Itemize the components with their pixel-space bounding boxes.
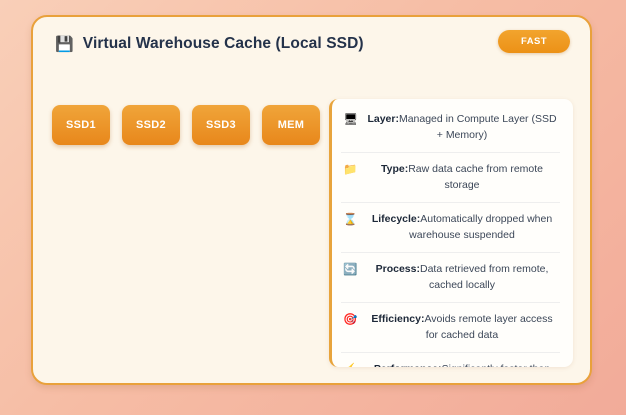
- desktop-computer-icon: 🖥: [343, 112, 358, 128]
- virtual-warehouse-cache-card: 💾 Virtual Warehouse Cache (Local SSD) FA…: [31, 15, 592, 385]
- page-title-text: Virtual Warehouse Cache (Local SSD): [83, 35, 364, 53]
- node-chip-mem[interactable]: MEM: [262, 105, 320, 145]
- info-item-value: Avoids remote layer access for cached da…: [424, 313, 552, 341]
- info-item-text: Type:Raw data cache from remote storage: [366, 162, 558, 193]
- page-title: 💾 Virtual Warehouse Cache (Local SSD): [55, 35, 364, 53]
- list-item: ⚡ Performance:Significantly faster than …: [341, 353, 560, 367]
- node-pane: SSD1 SSD2 SSD3 MEM: [33, 79, 325, 383]
- info-item-value: Automatically dropped when warehouse sus…: [409, 213, 552, 241]
- floppy-disk-icon: 💾: [55, 37, 74, 52]
- status-badge: FAST: [498, 30, 570, 53]
- list-item: ⌛ Lifecycle:Automatically dropped when w…: [341, 203, 560, 253]
- info-item-text: Efficiency:Avoids remote layer access fo…: [366, 312, 558, 343]
- node-chip-ssd2[interactable]: SSD2: [122, 105, 180, 145]
- info-panel: 🖥 Layer:Managed in Compute Layer (SSD + …: [329, 99, 573, 367]
- info-item-text: Layer:Managed in Compute Layer (SSD + Me…: [366, 112, 558, 143]
- info-item-key: Layer:: [367, 113, 399, 125]
- info-item-key: Process:: [376, 263, 420, 275]
- list-item: 🎯 Efficiency:Avoids remote layer access …: [341, 303, 560, 353]
- lightning-bolt-icon: ⚡: [343, 362, 358, 367]
- info-list: 🖥 Layer:Managed in Compute Layer (SSD + …: [332, 99, 573, 367]
- dart-target-icon: 🎯: [343, 312, 358, 328]
- info-item-key: Lifecycle:: [372, 213, 420, 225]
- info-item-value: Raw data cache from remote storage: [408, 163, 543, 191]
- list-item: 📁 Type:Raw data cache from remote storag…: [341, 153, 560, 203]
- hourglass-icon: ⌛: [343, 212, 358, 228]
- info-item-text: Lifecycle:Automatically dropped when war…: [366, 212, 558, 243]
- card-body: SSD1 SSD2 SSD3 MEM 🖥 Layer:Managed in Co…: [33, 79, 590, 383]
- card-header: 💾 Virtual Warehouse Cache (Local SSD) FA…: [33, 17, 590, 79]
- node-chip-row: SSD1 SSD2 SSD3 MEM: [52, 105, 320, 145]
- folder-icon: 📁: [343, 162, 358, 178]
- info-item-text: Process:Data retrieved from remote, cach…: [366, 262, 558, 293]
- list-item: 🔄 Process:Data retrieved from remote, ca…: [341, 253, 560, 303]
- info-item-key: Performance:: [374, 363, 442, 367]
- info-item-value: Data retrieved from remote, cached local…: [420, 263, 548, 291]
- node-chip-ssd1[interactable]: SSD1: [52, 105, 110, 145]
- refresh-sync-icon: 🔄: [343, 262, 358, 278]
- info-item-value: Managed in Compute Layer (SSD + Memory): [399, 113, 557, 141]
- info-item-text: Performance:Significantly faster than re…: [366, 362, 558, 367]
- info-item-key: Type:: [381, 163, 408, 175]
- info-item-key: Efficiency:: [371, 313, 424, 325]
- list-item: 🖥 Layer:Managed in Compute Layer (SSD + …: [341, 103, 560, 153]
- node-chip-ssd3[interactable]: SSD3: [192, 105, 250, 145]
